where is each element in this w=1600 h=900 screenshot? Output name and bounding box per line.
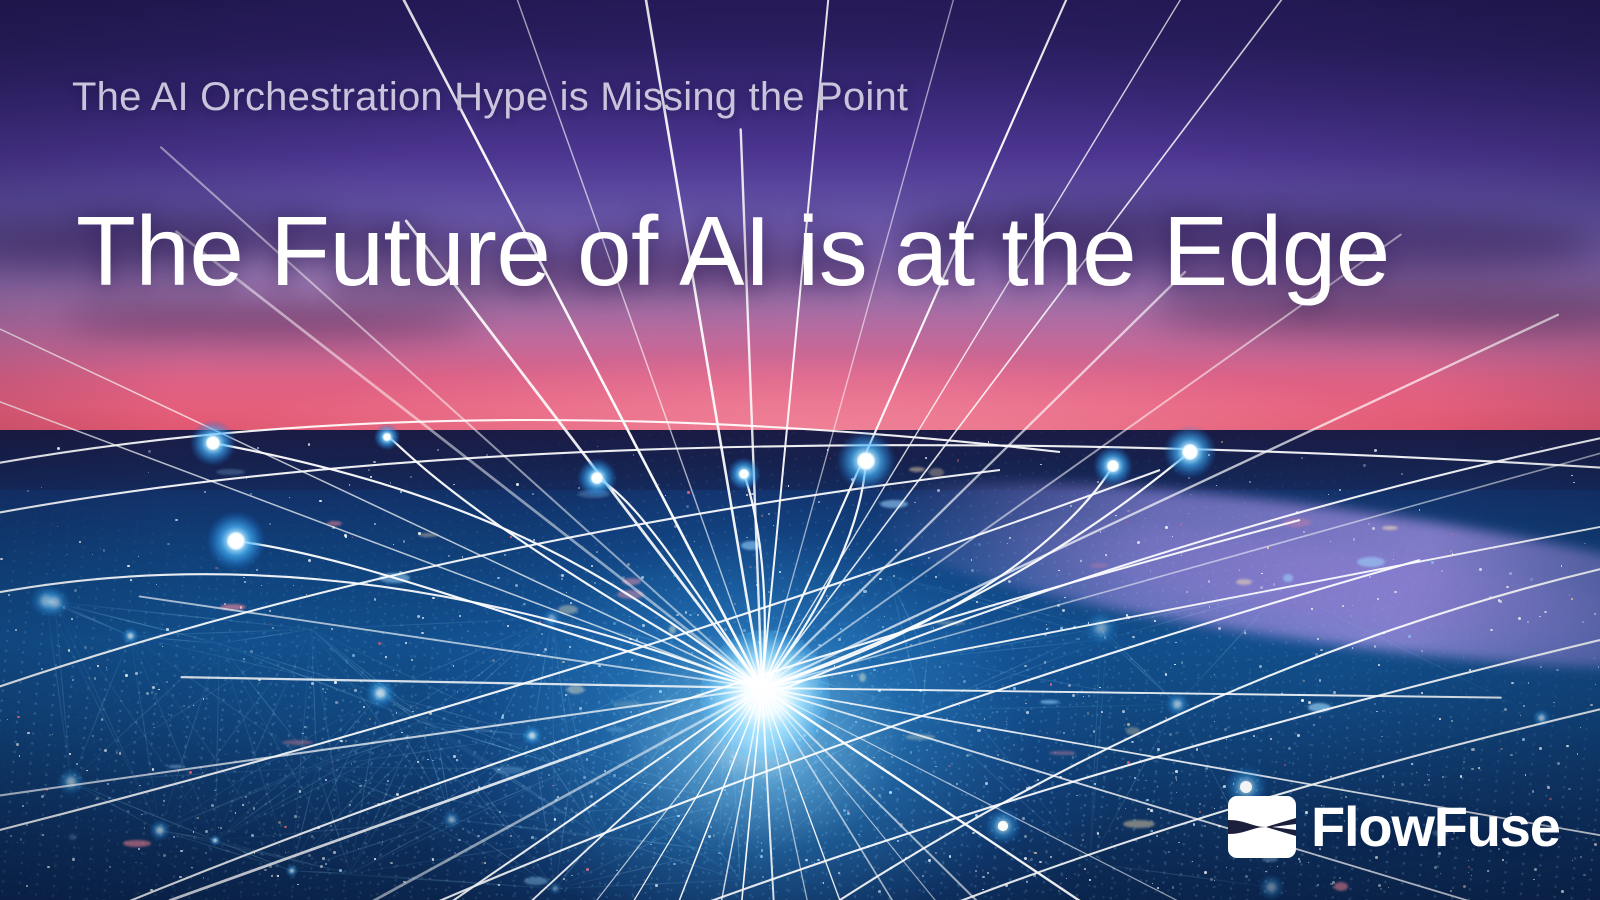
network-graphic bbox=[0, 0, 1600, 900]
burst-ray-lines bbox=[0, 0, 1600, 900]
brand-wordmark: FlowFuse bbox=[1311, 799, 1560, 855]
kicker-text: The AI Orchestration Hype is Missing the… bbox=[72, 74, 908, 120]
page-title: The Future of AI is at the Edge bbox=[76, 200, 1390, 303]
brand-logo[interactable]: FlowFuse bbox=[1228, 796, 1560, 858]
flowfuse-logo-mark-icon bbox=[1228, 796, 1296, 858]
hero-banner: The AI Orchestration Hype is Missing the… bbox=[0, 0, 1600, 900]
